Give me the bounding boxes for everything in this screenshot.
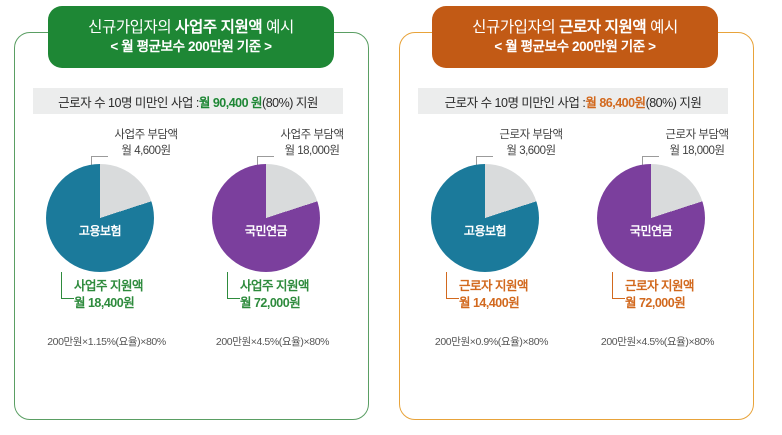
callout-line1: 근로자 부담액	[483, 128, 579, 144]
title-suffix: 예시	[262, 19, 294, 36]
infobar-highlight: 월 86,400원	[585, 92, 645, 111]
pie-slices	[431, 164, 539, 272]
callout-line2: 월 18,000원	[649, 144, 745, 160]
panel-employer-header: 신규가입자의 사업주 지원액 예시 < 월 평균보수 200만원 기준 >	[48, 6, 334, 68]
panel-employer-subtitle: < 월 평균보수 200만원 기준 >	[110, 39, 271, 56]
callout-line1: 근로자 지원액	[625, 278, 694, 295]
panel-worker-title: 신규가입자의 근로자 지원액 예시	[472, 18, 678, 37]
worker-charts: 근로자 부담액 월 3,600원 고용보험 근로자 지원액 월 14,400원 …	[0, 128, 782, 318]
callout-line1: 근로자 지원액	[459, 278, 528, 295]
infobar-suffix: (80%) 지원	[646, 92, 702, 111]
panel-employer-infobar: 근로자 수 10명 미만인 사업 : 월 90,400 원(80%) 지원	[33, 88, 343, 114]
chart-worker-employment-insurance: 근로자 부담액 월 3,600원 고용보험 근로자 지원액 월 14,400원	[409, 128, 574, 318]
panel-worker-header: 신규가입자의 근로자 지원액 예시 < 월 평균보수 200만원 기준 >	[432, 6, 718, 68]
infobar-prefix: 근로자 수 10명 미만인 사업 :	[58, 92, 199, 111]
leader-line-bottom	[612, 272, 625, 299]
callout-line2: 월 3,600원	[483, 144, 579, 160]
pie-slices	[597, 164, 705, 272]
title-prefix: 신규가입자의	[88, 19, 175, 36]
callout-line2: 월 72,000원	[625, 295, 694, 312]
formula-worker-ei: 200만원×0.9%(요율)×80%	[409, 334, 574, 349]
chart-worker-national-pension: 근로자 부담액 월 18,000원 국민연금 근로자 지원액 월 72,000원	[575, 128, 740, 318]
callout-worker-np-support: 근로자 지원액 월 72,000원	[625, 278, 694, 312]
panel-worker-infobar: 근로자 수 10명 미만인 사업 : 월 86,400원(80%) 지원	[418, 88, 728, 114]
title-bold: 사업주 지원액	[175, 19, 262, 36]
pie-worker-np: 국민연금	[597, 164, 705, 272]
leader-line-bottom	[446, 272, 459, 299]
callout-line1: 근로자 부담액	[649, 128, 745, 144]
callout-worker-ei-support: 근로자 지원액 월 14,400원	[459, 278, 528, 312]
title-bold: 근로자 지원액	[559, 19, 646, 36]
panel-worker-subtitle: < 월 평균보수 200만원 기준 >	[494, 39, 655, 56]
callout-worker-ei-burden: 근로자 부담액 월 3,600원	[483, 128, 579, 159]
pie-worker-ei: 고용보험	[431, 164, 539, 272]
infobar-suffix: (80%) 지원	[262, 92, 318, 111]
title-prefix: 신규가입자의	[472, 19, 559, 36]
callout-worker-np-burden: 근로자 부담액 월 18,000원	[649, 128, 745, 159]
callout-line2: 월 14,400원	[459, 295, 528, 312]
formula-worker-np: 200만원×4.5%(요율)×80%	[575, 334, 740, 349]
infobar-prefix: 근로자 수 10명 미만인 사업 :	[445, 92, 586, 111]
formula-employer-np: 200만원×4.5%(요율)×80%	[190, 334, 355, 349]
infographic-root: 신규가입자의 사업주 지원액 예시 < 월 평균보수 200만원 기준 > 근로…	[0, 0, 782, 435]
formula-employer-ei: 200만원×1.15%(요율)×80%	[24, 334, 189, 349]
infobar-highlight: 월 90,400 원	[199, 92, 262, 111]
panel-employer-title: 신규가입자의 사업주 지원액 예시	[88, 18, 294, 37]
title-suffix: 예시	[646, 19, 678, 36]
